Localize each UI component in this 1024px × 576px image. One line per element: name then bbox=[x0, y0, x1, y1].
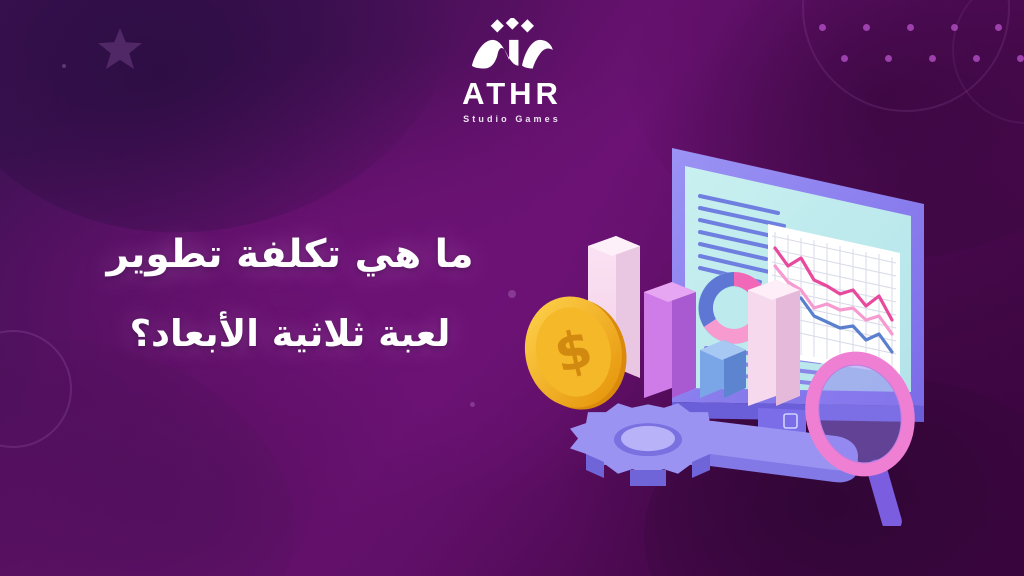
brand-logo: ATHR Studio Games bbox=[0, 18, 1024, 124]
athr-mountain-diamonds-icon bbox=[469, 18, 555, 76]
gear-icon bbox=[570, 403, 726, 486]
isometric-dashboard-graphic: $ bbox=[520, 96, 1000, 526]
sparkle-dot-1 bbox=[508, 290, 516, 298]
brand-tagline: Studio Games bbox=[463, 114, 561, 124]
decorative-circle-left bbox=[0, 330, 72, 448]
sparkle-dot-2 bbox=[470, 402, 475, 407]
headline-line-2: لعبة ثلاثية الأبعاد؟ bbox=[80, 313, 500, 356]
promo-banner: ATHR Studio Games ما هي تكلفة تطوير لعبة… bbox=[0, 0, 1024, 576]
brand-name: ATHR bbox=[462, 78, 562, 109]
analytics-illustration: $ bbox=[520, 96, 1000, 526]
headline-line-1: ما هي تكلفة تطوير bbox=[80, 232, 500, 277]
headline: ما هي تكلفة تطوير لعبة ثلاثية الأبعاد؟ bbox=[80, 232, 500, 356]
